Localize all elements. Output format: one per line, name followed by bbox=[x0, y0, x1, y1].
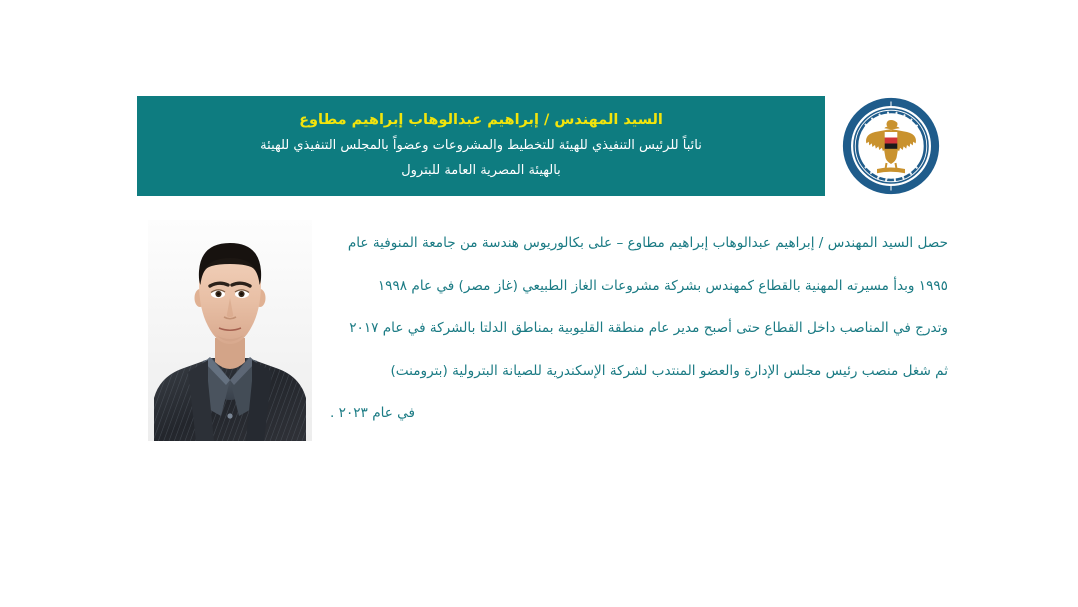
header-row: السيد المهندس / إبراهيم عبدالوهاب إبراهي… bbox=[137, 96, 947, 196]
biography-line-3: وتدرج في المناصب داخل القطاع حتى أصبح مد… bbox=[330, 307, 948, 350]
header-band: السيد المهندس / إبراهيم عبدالوهاب إبراهي… bbox=[137, 96, 825, 196]
biography-line-5: في عام ٢٠٢٣ . bbox=[330, 392, 948, 435]
egypt-ministry-of-petroleum-seal-icon: seal bbox=[839, 94, 943, 198]
slide-canvas: السيد المهندس / إبراهيم عبدالوهاب إبراهي… bbox=[0, 0, 1078, 607]
avatar bbox=[148, 220, 312, 441]
biography-line-4: ثم شغل منصب رئيس مجلس الإدارة والعضو الم… bbox=[330, 350, 948, 393]
biography-paragraph: حصل السيد المهندس / إبراهيم عبدالوهاب إب… bbox=[330, 222, 948, 435]
biography-line-2: ١٩٩٥ وبدأ مسيرته المهنية بالقطاع كمهندس … bbox=[330, 265, 948, 308]
person-organization-line: بالهيئة المصرية العامة للبترول bbox=[151, 164, 811, 177]
ministry-logo: seal bbox=[835, 94, 947, 198]
person-name-title: السيد المهندس / إبراهيم عبدالوهاب إبراهي… bbox=[151, 113, 811, 128]
biography-line-1: حصل السيد المهندس / إبراهيم عبدالوهاب إب… bbox=[330, 222, 948, 265]
portrait-photo-icon bbox=[148, 220, 312, 441]
person-position-line: نائباً للرئيس التنفيذي للهيئة للتخطيط وا… bbox=[151, 139, 811, 152]
